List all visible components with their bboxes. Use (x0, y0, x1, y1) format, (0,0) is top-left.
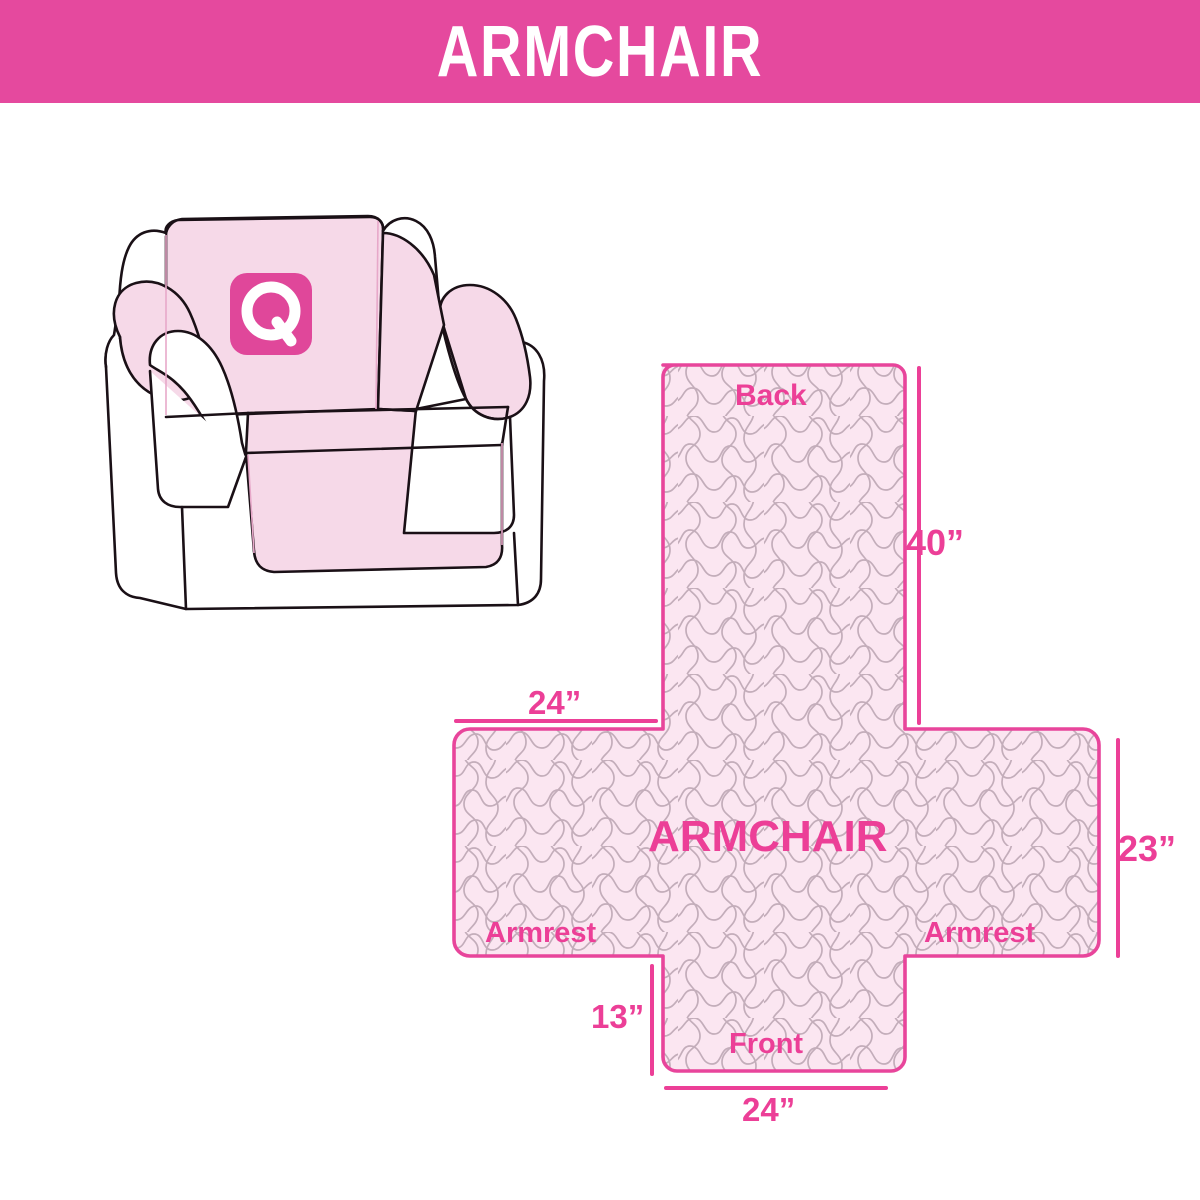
panel-label-armrest-left: Armrest (485, 919, 596, 948)
dimension-back-width: 24” (528, 686, 581, 719)
panel-label-front: Front (729, 1030, 803, 1059)
page-header: ARMCHAIR (0, 0, 1200, 103)
dimension-back-height: 40” (906, 525, 964, 561)
dimension-front-width: 24” (742, 1093, 795, 1126)
panel-label-armchair: ARMCHAIR (648, 815, 888, 859)
q-logo (230, 273, 312, 355)
panel-label-back: Back (735, 381, 807, 411)
dimension-seat-depth: 23” (1118, 831, 1176, 867)
panel-label-armrest-right: Armrest (924, 919, 1035, 948)
page-root: ARMCHAIR (0, 0, 1200, 1200)
page-title: ARMCHAIR (437, 16, 763, 88)
slipcover-cross-diagram (420, 330, 1200, 1130)
dimension-front-drop: 13” (591, 1000, 644, 1033)
